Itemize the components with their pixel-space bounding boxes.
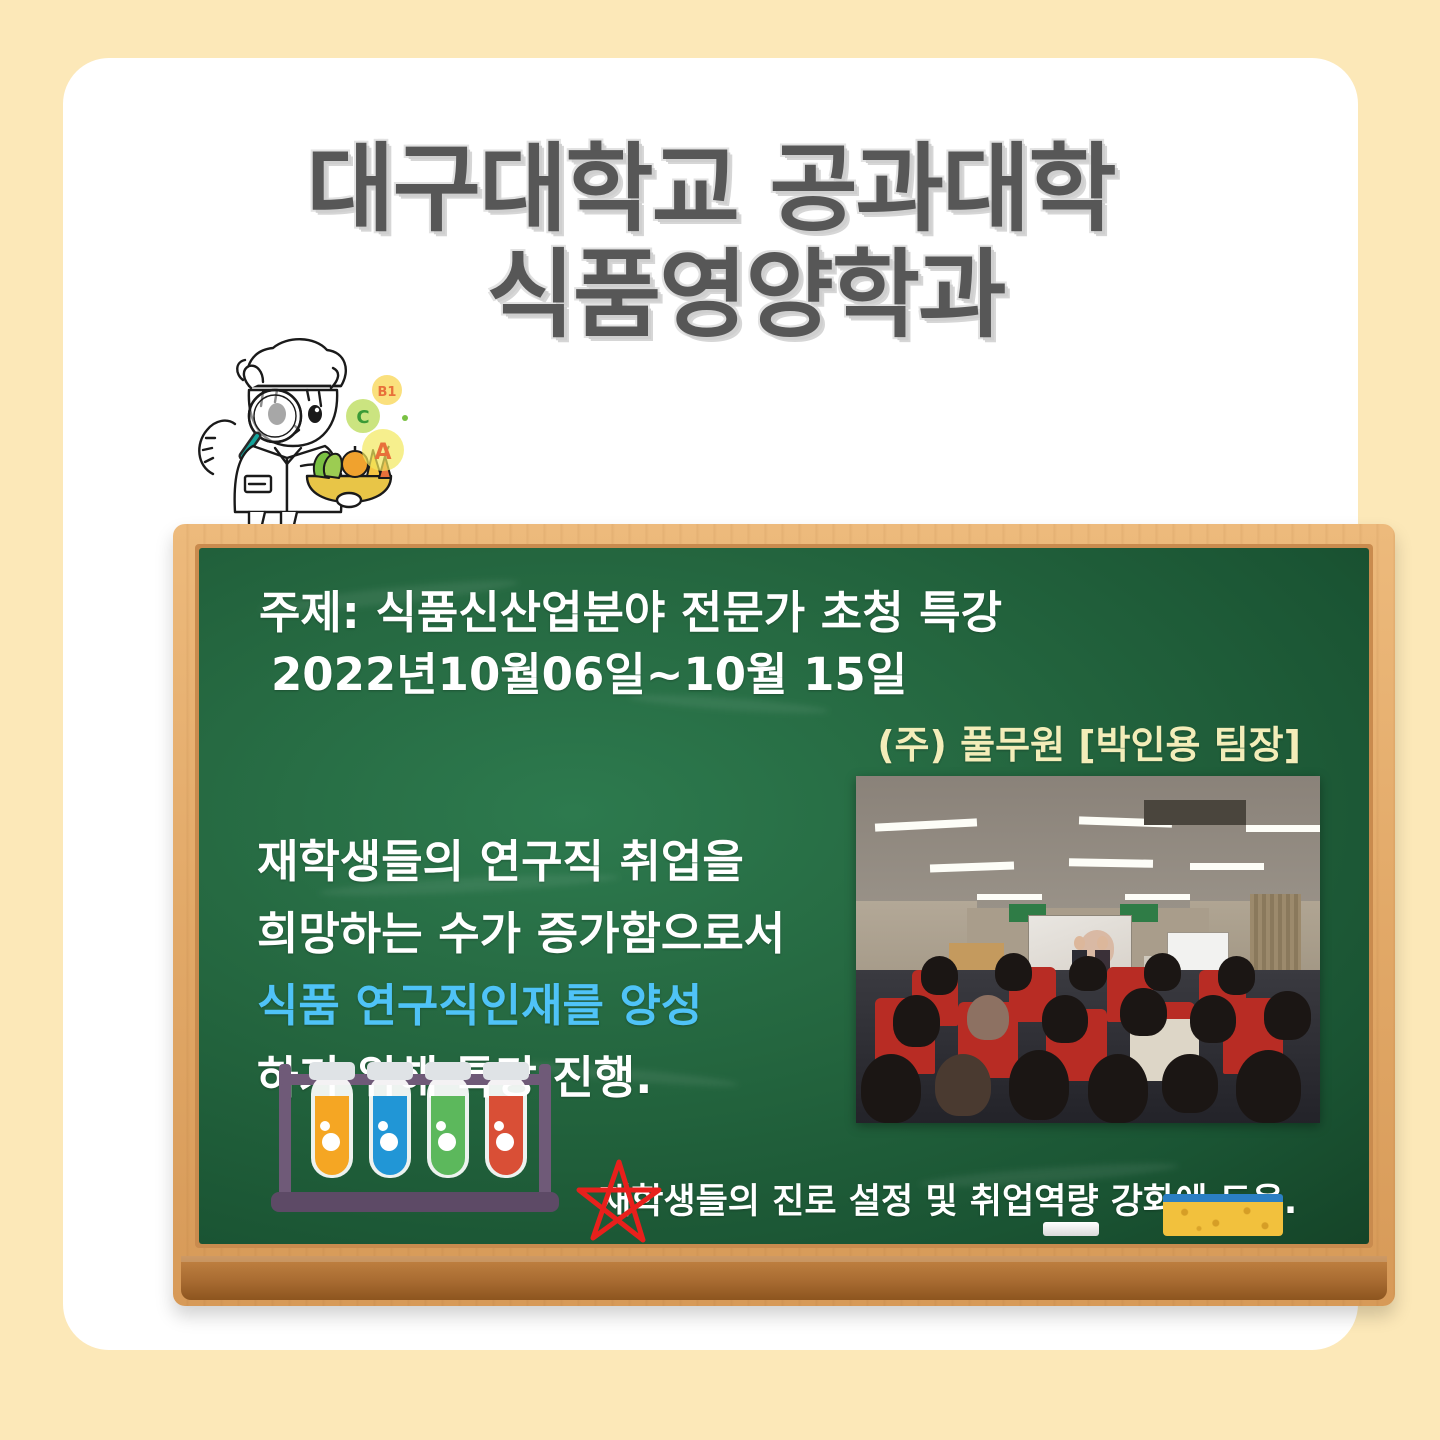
date-line: 2022년10월06일~10월 15일 — [271, 638, 907, 703]
sponsor-line: (주) 풀무원 [박인용 팀장] — [877, 714, 1301, 769]
chalkboard-surface: 주제: 식품신산업분야 전문가 초청 특강 2022년10월06일~10월 15… — [199, 548, 1369, 1244]
tiger-mascot-illustration: B1 C A — [191, 326, 431, 541]
page-title: 대구대학교 공과대학 식품영양학과 — [63, 136, 1358, 348]
body-line-3-accent: 식품 연구직인재를 양성 — [257, 970, 877, 1042]
chalkboard: 주제: 식품신산업분야 전문가 초청 특강 2022년10월06일~10월 15… — [173, 524, 1395, 1306]
chalkboard-ledge — [181, 1256, 1387, 1300]
body-line-2: 희망하는 수가 증가함으로서 — [257, 898, 877, 970]
body-line-1: 재학생들의 연구직 취업을 — [257, 826, 877, 898]
sponge-eraser-icon — [1163, 1194, 1283, 1236]
test-tube-rack-illustration — [265, 1050, 565, 1230]
svg-text:B1: B1 — [378, 385, 397, 400]
poster-card: 대구대학교 공과대학 식품영양학과 — [63, 58, 1358, 1350]
lecture-hall-photo — [856, 776, 1320, 1123]
svg-text:A: A — [374, 440, 391, 465]
svg-text:C: C — [356, 407, 369, 428]
red-star-doodle-icon — [571, 1156, 667, 1244]
subject-line: 주제: 식품신산업분야 전문가 초청 특강 — [259, 576, 1002, 641]
chalk-stick-icon — [1043, 1222, 1099, 1236]
title-line-1: 대구대학교 공과대학 — [63, 136, 1358, 242]
